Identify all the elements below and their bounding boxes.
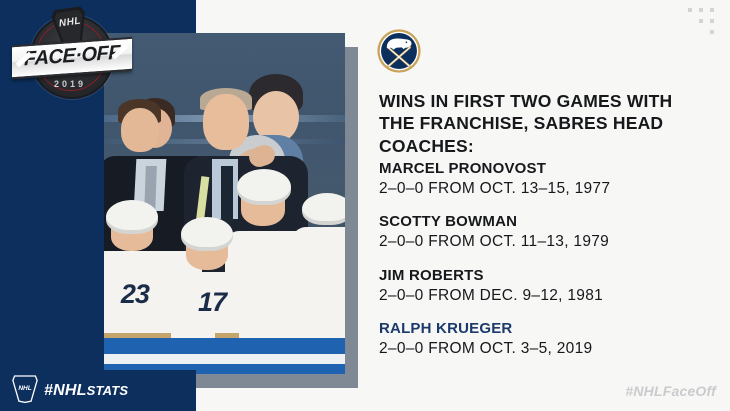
coach-name: SCOTTY BOWMAN bbox=[379, 213, 699, 231]
bench-photo: 23 17 bbox=[104, 33, 345, 374]
coach-name-highlighted: RALPH KRUEGER bbox=[379, 320, 699, 338]
graphic-canvas: 23 17 NHL FACE·OFF 2019 bbox=[0, 0, 730, 411]
svg-text:NHL: NHL bbox=[18, 385, 31, 392]
coach-record: 2–0–0 FROM OCT. 3–5, 2019 bbox=[379, 339, 699, 359]
coach-list: MARCEL PRONOVOST 2–0–0 FROM OCT. 13–15, … bbox=[379, 160, 699, 374]
faceoff-watermark: #NHLFaceOff bbox=[625, 383, 716, 399]
coach-record: 2–0–0 FROM DEC. 9–12, 1981 bbox=[379, 286, 699, 306]
player-number: 23 bbox=[121, 279, 149, 310]
nhlstats-hashtag: #NHLSTATS bbox=[44, 382, 128, 400]
nhl-faceoff-logo: NHL FACE·OFF 2019 bbox=[12, 5, 132, 97]
list-item: RALPH KRUEGER 2–0–0 FROM OCT. 3–5, 2019 bbox=[379, 320, 699, 359]
decorative-dot-grid bbox=[688, 8, 722, 34]
hashtag-suffix: STATS bbox=[87, 383, 129, 398]
page-title: WINS IN FIRST TWO GAMES WITH THE FRANCHI… bbox=[379, 90, 689, 157]
coach-record: 2–0–0 FROM OCT. 13–15, 1977 bbox=[379, 179, 699, 199]
list-item: SCOTTY BOWMAN 2–0–0 FROM OCT. 11–13, 197… bbox=[379, 213, 699, 252]
list-item: JIM ROBERTS 2–0–0 FROM DEC. 9–12, 1981 bbox=[379, 267, 699, 306]
coach-name: JIM ROBERTS bbox=[379, 267, 699, 285]
hashtag-prefix: #NHL bbox=[44, 382, 87, 399]
faceoff-year: 2019 bbox=[30, 79, 110, 89]
list-item: MARCEL PRONOVOST 2–0–0 FROM OCT. 13–15, … bbox=[379, 160, 699, 199]
player-number: 17 bbox=[198, 287, 226, 318]
nhl-shield-icon: NHL bbox=[12, 375, 38, 403]
buffalo-sabres-logo bbox=[376, 28, 422, 74]
coach-name: MARCEL PRONOVOST bbox=[379, 160, 699, 178]
coach-record: 2–0–0 FROM OCT. 11–13, 1979 bbox=[379, 232, 699, 252]
